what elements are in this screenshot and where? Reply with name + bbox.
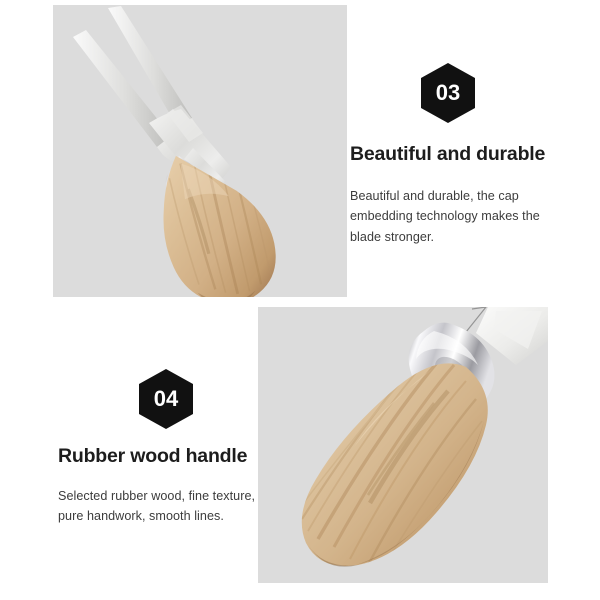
section-badge-03: 03 — [421, 63, 475, 123]
section-body-03: Beautiful and durable, the cap embedding… — [350, 186, 562, 247]
product-image-panel-04 — [258, 307, 548, 583]
section-number-04: 04 — [139, 369, 193, 429]
rubber-wood-handle-illustration — [258, 307, 548, 583]
cheese-fork-illustration — [53, 5, 347, 297]
section-badge-04: 04 — [139, 369, 193, 429]
section-heading-03: Beautiful and durable — [350, 143, 545, 166]
section-body-04: Selected rubber wood, fine texture, pure… — [58, 486, 263, 527]
product-feature-infographic: 03 Beautiful and durable Beautiful and d… — [0, 0, 600, 600]
product-image-panel-03 — [53, 5, 347, 297]
section-number-03: 03 — [421, 63, 475, 123]
section-heading-04: Rubber wood handle — [58, 445, 247, 468]
